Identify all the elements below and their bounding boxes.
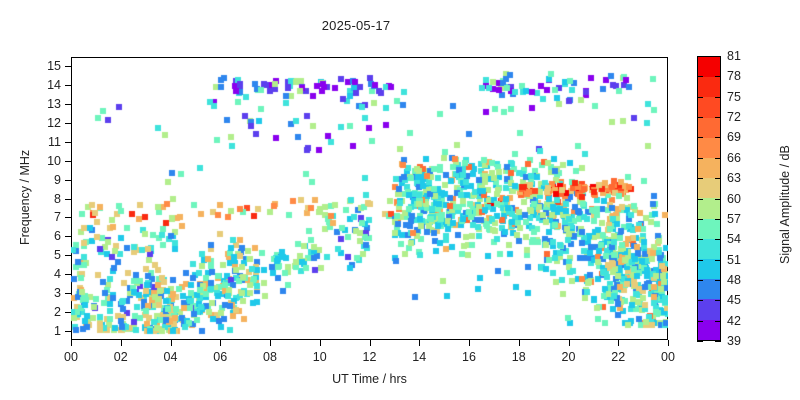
colorbar-tick — [697, 280, 703, 281]
x-tick-label: 06 — [213, 350, 227, 364]
y-tick — [65, 104, 71, 105]
colorbar-tick — [715, 280, 721, 281]
colorbar-tick — [697, 199, 703, 200]
colorbar-tick — [697, 239, 703, 240]
colorbar-tick-label: 60 — [727, 192, 741, 206]
y-tick-label: 4 — [54, 267, 61, 281]
x-tick — [618, 340, 619, 346]
y-tick-label: 10 — [47, 154, 61, 168]
colorbar-tick — [697, 260, 703, 261]
colorbar-tick — [715, 239, 721, 240]
x-tick-label: 14 — [412, 350, 426, 364]
colorbar-tick-label: 69 — [727, 130, 741, 144]
colorbar-tick — [715, 178, 721, 179]
colorbar-tick — [697, 56, 703, 57]
colorbar-tick — [697, 76, 703, 77]
colorbar-tick-label: 78 — [727, 69, 741, 83]
y-tick — [65, 123, 71, 124]
colorbar-tick — [715, 341, 721, 342]
x-tick-label: 18 — [512, 350, 526, 364]
colorbar-tick-label: 39 — [727, 334, 741, 348]
colorbar-tick — [715, 158, 721, 159]
y-tick-label: 12 — [47, 116, 61, 130]
x-tick-label: 00 — [661, 350, 675, 364]
y-tick — [65, 161, 71, 162]
colorbar-tick-label: 81 — [727, 49, 741, 63]
y-tick-label: 3 — [54, 286, 61, 300]
y-tick — [65, 255, 71, 256]
x-tick — [668, 340, 669, 346]
y-tick — [65, 274, 71, 275]
x-tick-label: 08 — [263, 350, 277, 364]
colorbar-title: Signal Amplitude / dB — [778, 145, 792, 264]
colorbar-tick — [715, 117, 721, 118]
x-tick — [171, 340, 172, 346]
y-tick-label: 15 — [47, 59, 61, 73]
y-tick — [65, 85, 71, 86]
x-tick — [71, 340, 72, 346]
y-tick — [65, 199, 71, 200]
x-tick — [519, 340, 520, 346]
x-tick-label: 10 — [313, 350, 327, 364]
colorbar-tick — [697, 321, 703, 322]
y-tick — [65, 180, 71, 181]
colorbar-tick — [715, 199, 721, 200]
colorbar-tick — [697, 300, 703, 301]
colorbar-band — [698, 178, 720, 198]
x-tick — [220, 340, 221, 346]
colorbar-tick — [715, 76, 721, 77]
y-axis-title: Frequency / MHz — [18, 149, 32, 244]
y-tick — [65, 236, 71, 237]
y-tick-label: 14 — [47, 78, 61, 92]
y-tick-label: 1 — [54, 324, 61, 338]
colorbar-tick-label: 42 — [727, 314, 741, 328]
y-tick — [65, 217, 71, 218]
colorbar-tick-label: 54 — [727, 232, 741, 246]
y-tick — [65, 293, 71, 294]
colorbar-tick-label: 48 — [727, 273, 741, 287]
x-tick-label: 12 — [363, 350, 377, 364]
colorbar-band — [698, 57, 720, 77]
colorbar-tick-label: 57 — [727, 212, 741, 226]
colorbar-band — [698, 118, 720, 138]
colorbar-tick — [715, 97, 721, 98]
x-tick-label: 20 — [562, 350, 576, 364]
y-tick-label: 5 — [54, 248, 61, 262]
y-tick-label: 6 — [54, 229, 61, 243]
colorbar-tick-label: 72 — [727, 110, 741, 124]
colorbar-band — [698, 198, 720, 218]
colorbar-tick — [715, 260, 721, 261]
colorbar-tick-label: 75 — [727, 90, 741, 104]
x-tick — [419, 340, 420, 346]
x-tick — [121, 340, 122, 346]
colorbar-tick — [697, 178, 703, 179]
colorbar-tick-label: 51 — [727, 253, 741, 267]
y-tick — [65, 331, 71, 332]
colorbar-tick — [697, 137, 703, 138]
x-tick-label: 16 — [462, 350, 476, 364]
x-tick — [320, 340, 321, 346]
y-tick-label: 2 — [54, 305, 61, 319]
y-tick-label: 8 — [54, 192, 61, 206]
colorbar-band — [698, 97, 720, 117]
x-tick — [469, 340, 470, 346]
x-tick-label: 02 — [114, 350, 128, 364]
colorbar-band — [698, 320, 720, 340]
x-tick — [270, 340, 271, 346]
colorbar-tick-label: 63 — [727, 171, 741, 185]
colorbar-tick — [697, 158, 703, 159]
colorbar-tick-label: 45 — [727, 293, 741, 307]
page-title: 2025-05-17 — [0, 18, 712, 33]
x-tick — [370, 340, 371, 346]
y-tick-label: 9 — [54, 173, 61, 187]
y-tick-label: 13 — [47, 97, 61, 111]
plot-frame — [71, 57, 668, 340]
colorbar-band — [698, 259, 720, 279]
colorbar-band — [698, 299, 720, 319]
colorbar-tick — [715, 300, 721, 301]
colorbar-tick — [715, 56, 721, 57]
colorbar-tick — [715, 219, 721, 220]
colorbar-tick — [715, 321, 721, 322]
x-tick-label: 22 — [611, 350, 625, 364]
colorbar-band — [698, 279, 720, 299]
x-tick-label: 00 — [64, 350, 78, 364]
y-tick — [65, 312, 71, 313]
colorbar-tick — [715, 137, 721, 138]
colorbar-band — [698, 158, 720, 178]
x-tick — [569, 340, 570, 346]
colorbar-band — [698, 138, 720, 158]
colorbar-tick — [697, 97, 703, 98]
colorbar-tick — [697, 341, 703, 342]
x-tick-label: 04 — [164, 350, 178, 364]
y-tick-label: 7 — [54, 210, 61, 224]
x-axis-title: UT Time / hrs — [325, 372, 415, 386]
colorbar-band — [698, 219, 720, 239]
colorbar-tick — [697, 117, 703, 118]
colorbar-tick-label: 66 — [727, 151, 741, 165]
y-tick-label: 11 — [48, 135, 61, 149]
colorbar-band — [698, 239, 720, 259]
colorbar-band — [698, 77, 720, 97]
y-tick — [65, 66, 71, 67]
y-tick — [65, 142, 71, 143]
colorbar-tick — [697, 219, 703, 220]
